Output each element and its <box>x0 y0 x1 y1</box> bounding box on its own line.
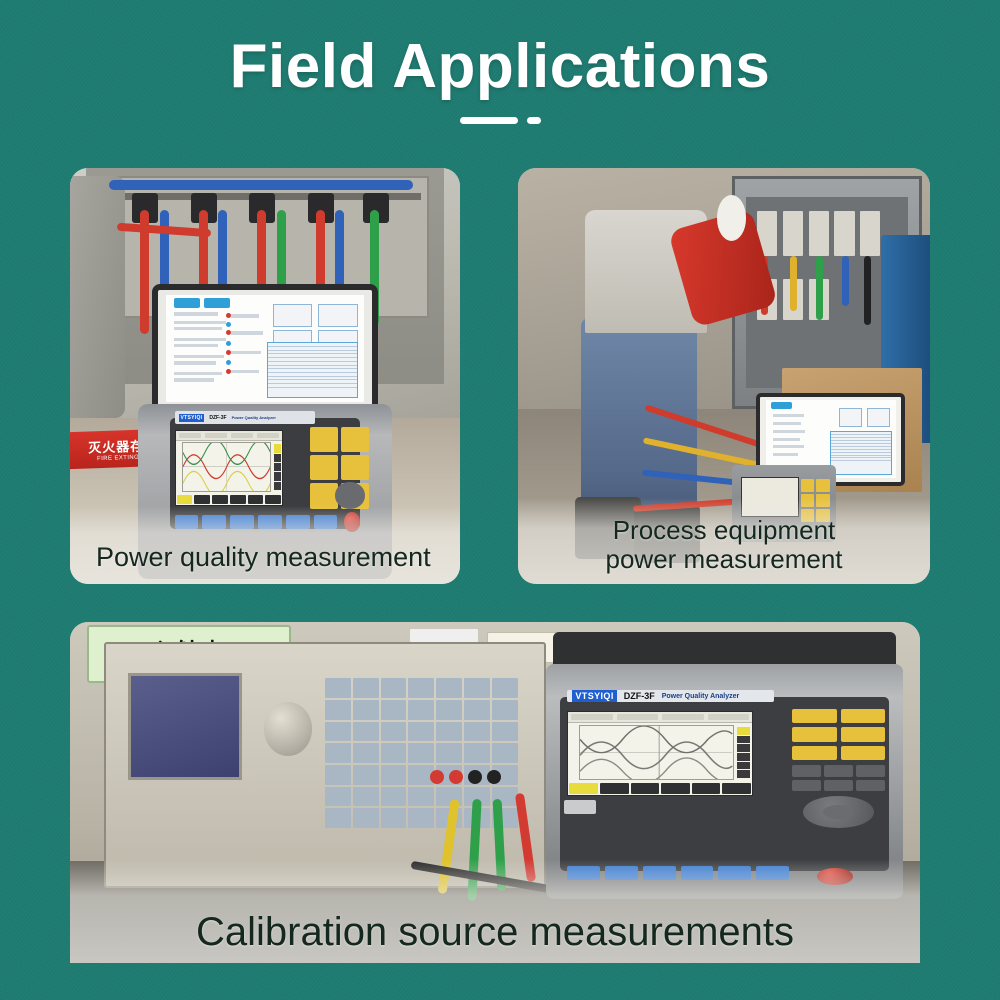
softkey-row[interactable] <box>567 866 788 880</box>
keypad-key[interactable] <box>792 727 836 742</box>
device-descriptor: Power Quality Analyzer <box>232 415 276 420</box>
power-button[interactable] <box>344 512 360 532</box>
analyzer-device: VTSYIQI DZF-3F Power Quality Analyzer <box>152 284 378 575</box>
keypad-key[interactable] <box>801 479 815 492</box>
keypad-key[interactable] <box>841 709 885 724</box>
softkey-f5[interactable] <box>718 866 751 880</box>
page-title: Field Applications <box>0 34 1000 99</box>
marketing-banner: Field Applications <box>0 0 1000 1000</box>
control-key[interactable] <box>856 780 885 791</box>
waveform-plot <box>183 443 271 490</box>
calibration-source <box>104 642 546 888</box>
brand-badge: VTSYIQI <box>179 414 205 422</box>
control-key[interactable] <box>792 765 821 776</box>
device-screen <box>175 430 284 506</box>
softkey-f2[interactable] <box>605 866 638 880</box>
control-key[interactable] <box>856 765 885 776</box>
case-lid <box>152 284 378 412</box>
softkey-row[interactable] <box>175 515 338 530</box>
dpad-center-button[interactable] <box>823 805 854 819</box>
keypad-key[interactable] <box>310 427 338 452</box>
model-label: DZF-3F <box>624 691 655 701</box>
model-label: DZF-3F <box>209 415 226 421</box>
control-keys[interactable] <box>792 765 885 791</box>
control-key[interactable] <box>824 780 853 791</box>
device-brand-label: VTSYIQI DZF-3F Power Quality Analyzer <box>175 411 315 424</box>
device-screen <box>741 477 799 517</box>
keypad-key[interactable] <box>341 427 369 452</box>
keypad-key[interactable] <box>310 483 338 508</box>
card-caption: Power quality measurement <box>70 542 460 572</box>
rotary-knob[interactable] <box>264 702 312 755</box>
card-caption: Process equipment power measurement <box>518 516 930 574</box>
power-button[interactable] <box>817 868 853 884</box>
softkey-f4[interactable] <box>258 515 282 530</box>
title-divider <box>0 117 1000 124</box>
card-calibration-source-measurements[interactable]: 心触电 ELECTRIC SHOCK RISK <box>70 622 920 963</box>
softkey-f2[interactable] <box>202 515 226 530</box>
softkey-f6[interactable] <box>756 866 789 880</box>
softkey-f3[interactable] <box>643 866 676 880</box>
technician <box>572 172 737 555</box>
navigation-dpad[interactable] <box>335 482 364 508</box>
keypad-key[interactable] <box>341 455 369 480</box>
analyzer-device: VTSYIQI DZF-3F Power Quality Analyzer <box>546 642 903 915</box>
header: Field Applications <box>0 34 1000 124</box>
card-caption: Calibration source measurements <box>70 910 920 955</box>
device-screen <box>567 711 753 795</box>
usb-port <box>564 800 596 814</box>
waveform-plot <box>580 726 732 779</box>
keypad-key[interactable] <box>841 746 885 761</box>
softkey-f5[interactable] <box>286 515 310 530</box>
keypad-key[interactable] <box>801 494 815 507</box>
control-key[interactable] <box>824 765 853 776</box>
keypad-key[interactable] <box>792 746 836 761</box>
keypad-key[interactable] <box>816 479 830 492</box>
photo-power-quality-measurement: 灭火器存放点 FIRE EXTINGUISHER <box>70 168 460 584</box>
keypad-key[interactable] <box>816 494 830 507</box>
keypad-key[interactable] <box>841 727 885 742</box>
control-key[interactable] <box>792 780 821 791</box>
softkey-f3[interactable] <box>230 515 254 530</box>
brand-badge: VTSYIQI <box>572 690 616 702</box>
keypad-key[interactable] <box>310 455 338 480</box>
function-keypad[interactable] <box>792 709 885 761</box>
softkey-f6[interactable] <box>314 515 338 530</box>
output-terminals[interactable] <box>430 751 526 804</box>
instruction-sheet <box>166 295 363 402</box>
softkey-f1[interactable] <box>175 515 199 530</box>
divider-short-bar <box>527 117 541 124</box>
device-body: VTSYIQI DZF-3F Power Quality Analyzer <box>546 664 903 899</box>
divider-long-bar <box>460 117 518 124</box>
softkey-f1[interactable] <box>567 866 600 880</box>
keypad-key[interactable] <box>792 709 836 724</box>
calibrator-display <box>128 673 242 779</box>
card-process-equipment-power-measurement[interactable]: Process equipment power measurement <box>518 168 930 584</box>
card-power-quality-measurement[interactable]: 灭火器存放点 FIRE EXTINGUISHER <box>70 168 460 584</box>
device-descriptor: Power Quality Analyzer <box>662 693 740 700</box>
device-brand-label: VTSYIQI DZF-3F Power Quality Analyzer <box>567 690 774 702</box>
softkey-f4[interactable] <box>681 866 714 880</box>
